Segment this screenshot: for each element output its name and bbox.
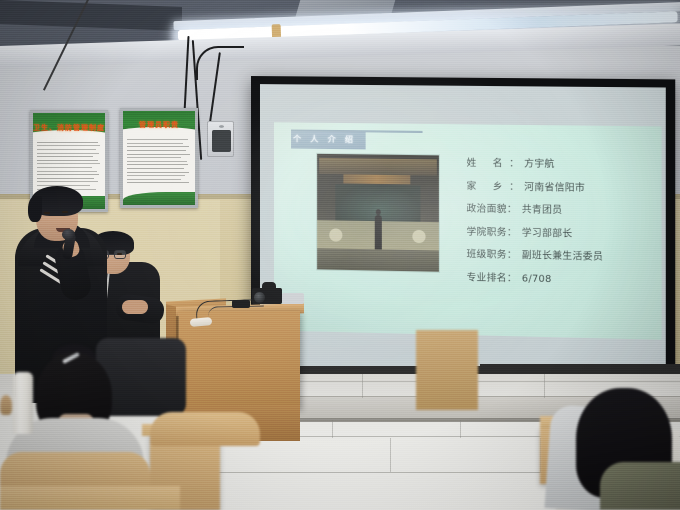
info-label: 姓 名 bbox=[467, 155, 510, 170]
info-value: 副班长兼生活委员 bbox=[522, 247, 603, 263]
info-value: 6/708 bbox=[522, 273, 552, 285]
photo-lantern-right bbox=[412, 230, 425, 243]
camera-lens-icon bbox=[254, 292, 265, 303]
poster-text-block bbox=[127, 139, 190, 194]
presentation-slide: 个 人 介 绍 姓 名 ： 方宇航 bbox=[274, 122, 662, 340]
photo-person-head bbox=[376, 209, 381, 215]
info-value: 共青团员 bbox=[522, 201, 563, 216]
photo-building-roof bbox=[319, 158, 437, 176]
slide-portrait-photo bbox=[317, 154, 439, 272]
info-colon: ： bbox=[509, 178, 519, 192]
info-label: 班级职务 bbox=[467, 246, 507, 261]
info-row-political-status: 政治面貌 ： 共青团员 bbox=[467, 200, 652, 217]
small-desk-object bbox=[0, 395, 12, 415]
tile-seam bbox=[460, 420, 461, 438]
poster-footer-band bbox=[123, 192, 195, 205]
info-row-hometown: 家 乡 ： 河南省信阳市 bbox=[467, 178, 652, 195]
equipment-mount bbox=[232, 300, 250, 308]
photo-signboard bbox=[343, 174, 410, 184]
panel-indicator-icon bbox=[219, 125, 224, 128]
info-colon: ： bbox=[507, 201, 517, 215]
wall-baseboard bbox=[480, 364, 680, 374]
info-colon: ： bbox=[509, 155, 519, 169]
tile-seam bbox=[362, 374, 363, 398]
audience-front-right-body bbox=[600, 462, 680, 510]
photo-lantern-left bbox=[329, 228, 342, 241]
info-value: 方宇航 bbox=[524, 155, 554, 170]
glasses-bridge bbox=[109, 254, 114, 255]
wall-cable-loop bbox=[196, 46, 244, 80]
tile-seam bbox=[332, 420, 333, 438]
white-thermos-bottle bbox=[13, 372, 33, 434]
photo-ground bbox=[317, 248, 439, 272]
tile-seam bbox=[390, 438, 391, 472]
info-label: 学院职务 bbox=[467, 223, 507, 238]
slide-title: 个 人 介 绍 bbox=[293, 133, 366, 145]
poster-title-2: 管理员职责 bbox=[123, 120, 195, 130]
info-colon: ： bbox=[507, 224, 517, 238]
seated-student-hands bbox=[122, 300, 148, 314]
document-camera-arm bbox=[262, 282, 276, 292]
microphone-gooseneck-2 bbox=[208, 306, 264, 323]
info-value: 河南省信阳市 bbox=[524, 178, 585, 193]
info-colon: ： bbox=[507, 270, 517, 284]
microphone-head-icon bbox=[62, 229, 75, 240]
chair-backrest bbox=[150, 412, 260, 446]
slide-info-list: 姓 名 ： 方宇航 家 乡 ： 河南省信阳市 政治面貌 ： 共青团员 bbox=[467, 155, 652, 296]
wall-control-panel[interactable] bbox=[207, 121, 234, 157]
desk-panel-mid bbox=[416, 330, 478, 410]
equipment-box[interactable] bbox=[282, 293, 304, 304]
info-row-college-post: 学院职务 ： 学习部部长 bbox=[467, 223, 652, 240]
poster-title-1: 卫生、消防管理制度 bbox=[33, 123, 105, 133]
info-row-name: 姓 名 ： 方宇航 bbox=[467, 155, 652, 172]
desk-surface-front bbox=[0, 486, 180, 510]
info-label: 政治面貌 bbox=[467, 200, 507, 215]
notice-board-2: 管理员职责 bbox=[120, 108, 198, 208]
info-row-class-post: 班级职务 ： 副班长兼生活委员 bbox=[467, 246, 652, 264]
classroom-scene: 卫生、消防管理制度 管理员职责 bbox=[0, 0, 680, 510]
info-value: 学习部部长 bbox=[522, 224, 573, 239]
info-label: 家 乡 bbox=[467, 178, 510, 193]
info-label: 专业排名 bbox=[467, 269, 507, 284]
info-row-major-rank: 专业排名 ： 6/708 bbox=[467, 269, 652, 287]
info-colon: ： bbox=[507, 247, 517, 261]
tile-seam bbox=[544, 374, 545, 398]
presenter-hair-side bbox=[28, 196, 42, 222]
panel-display bbox=[212, 130, 231, 152]
